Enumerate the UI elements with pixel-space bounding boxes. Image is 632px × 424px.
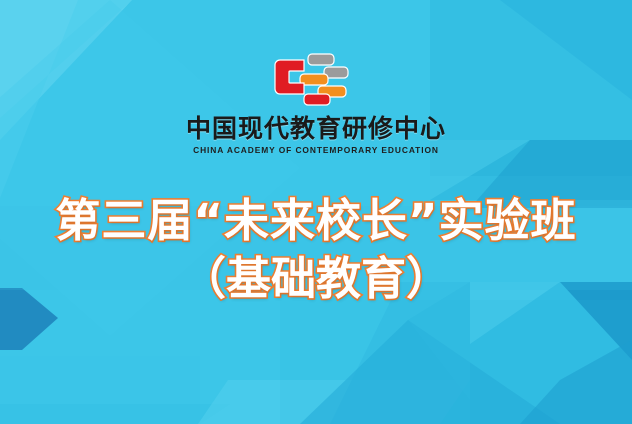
organization-name-en: CHINA ACADEMY OF CONTEMPORARY EDUCATION <box>193 145 439 155</box>
bg-facet-lower-shade <box>280 300 632 424</box>
logo-block: 中国现代教育研修中心 CHINA ACADEMY OF CONTEMPORARY… <box>0 52 632 155</box>
title-slide: 中国现代教育研修中心 CHINA ACADEMY OF CONTEMPORARY… <box>0 0 632 424</box>
cace-logo-mark-icon <box>274 52 358 108</box>
bg-facet-bottom-left-strip <box>0 404 230 424</box>
organization-name-zh: 中国现代教育研修中心 <box>186 116 446 142</box>
title-line-1: 第三届“未来校长”实验班 <box>0 192 632 250</box>
title-line-2: （基础教育） <box>0 250 632 308</box>
title-block: 第三届“未来校长”实验班 （基础教育） <box>0 192 632 308</box>
